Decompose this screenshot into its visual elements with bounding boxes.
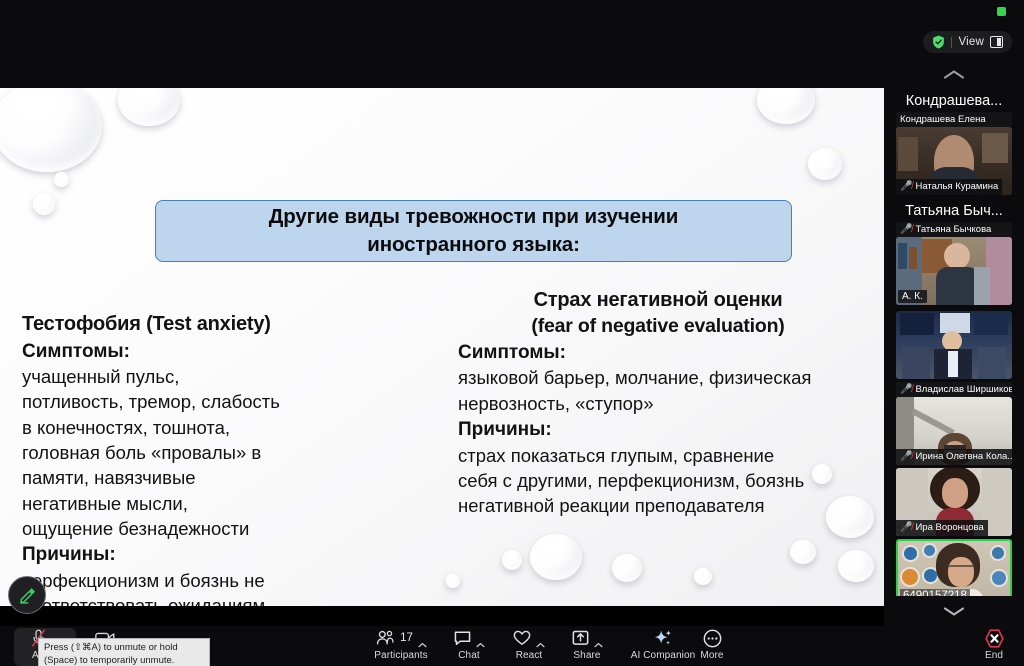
decorative-bubble xyxy=(808,148,842,180)
decorative-bubble xyxy=(0,88,102,172)
view-label[interactable]: View xyxy=(958,36,984,48)
more-dots-icon[interactable] xyxy=(703,628,722,648)
participants-button[interactable]: 17 Participants xyxy=(372,628,430,666)
right-heading-ru: Страх негативной оценки xyxy=(458,288,858,314)
rail-participant-name: Кондрашева... xyxy=(884,88,1024,112)
participant-video-tile[interactable]: 🎤̸ Ирина Олегвна Кола... xyxy=(896,397,1012,465)
left-symptoms-line: потливость, тремор, слабость xyxy=(22,389,352,414)
rail-participant-name: Татьяна Быч... xyxy=(884,198,1024,222)
sparkle-icon[interactable] xyxy=(653,628,673,648)
right-symptoms-label: Симптомы: xyxy=(458,340,858,365)
decorative-bubble xyxy=(694,568,712,585)
slide-title-box: Другие виды тревожности при изучении ино… xyxy=(155,200,792,262)
right-symptoms-line: языковой барьер, молчание, физическая xyxy=(458,365,858,390)
decorative-bubble xyxy=(790,540,816,564)
left-symptoms-line: памяти, навязчивые xyxy=(22,465,352,490)
mic-muted-icon: 🎤̸ xyxy=(900,383,912,396)
left-causes-line: перфекционизм и боязнь не xyxy=(22,568,352,593)
decorative-bubble xyxy=(612,554,642,582)
pencil-annotate-icon xyxy=(18,586,37,605)
react-options-caret[interactable] xyxy=(536,635,545,641)
participant-name: Ира Воронцова xyxy=(915,522,983,534)
participant-name: Наталья Курамина xyxy=(915,181,998,193)
audio-tooltip: Press (⇧⌘A) to unmute or hold (Space) to… xyxy=(38,638,210,666)
slide-left-column: Тестофобия (Test anxiety) Симптомы: учащ… xyxy=(22,312,352,606)
ai-companion-label: AI Companion xyxy=(631,650,696,661)
participant-video-tile[interactable]: 🎤̸ Наталья Курамина xyxy=(896,127,1012,195)
participants-options-caret[interactable] xyxy=(418,635,427,641)
right-causes-line: негативной реакции преподавателя xyxy=(458,493,858,518)
end-call-icon[interactable] xyxy=(984,628,1005,648)
participant-video-tile[interactable] xyxy=(896,311,1012,379)
rail-scroll-down-button[interactable] xyxy=(884,596,1024,626)
rail-self-name: Кондрашева Елена xyxy=(900,113,986,126)
decorative-bubble xyxy=(502,550,522,570)
chat-bubble-icon[interactable] xyxy=(454,628,471,648)
participant-name-tag: 🎤̸ Наталья Курамина xyxy=(896,179,1002,195)
participant-name: Ирина Олегвна Кола... xyxy=(915,451,1012,463)
right-causes-line: себя с другими, перфекционизм, боязнь xyxy=(458,468,858,493)
right-symptoms-line: нервозность, «ступор» xyxy=(458,391,858,416)
shared-screen-slide[interactable]: Другие виды тревожности при изучении ино… xyxy=(0,88,884,606)
share-button[interactable]: Share xyxy=(563,628,611,666)
left-symptoms-line: в конечностях, тошнота, xyxy=(22,415,352,440)
left-symptoms-line: головная боль «провалы» в xyxy=(22,440,352,465)
react-label: React xyxy=(516,650,543,661)
decorative-bubble xyxy=(838,550,874,582)
layout-icon[interactable] xyxy=(990,36,1003,48)
right-heading-en: (fear of negative evaluation) xyxy=(458,314,858,339)
left-symptoms-label: Симптомы: xyxy=(22,339,352,364)
participant-name-tag: 🎤̸ Ирина Олегвна Кола... xyxy=(896,449,1012,465)
participant-initials-label: А. К. xyxy=(898,290,927,303)
heart-icon[interactable] xyxy=(513,628,531,648)
left-causes-line: соответствовать ожиданиям. xyxy=(22,593,352,606)
decorative-bubble xyxy=(530,534,582,580)
participants-count: 17 xyxy=(400,632,413,644)
decorative-bubble xyxy=(118,88,180,126)
left-causes-label: Причины: xyxy=(22,542,352,567)
decorative-bubble xyxy=(446,574,460,588)
left-symptoms-line: учащенный пульс, xyxy=(22,364,352,389)
mic-muted-icon: 🎤̸ xyxy=(900,522,912,534)
participants-label: Participants xyxy=(374,650,427,661)
participant-name-tag: 🎤̸ Ира Воронцова xyxy=(896,520,988,536)
divider xyxy=(951,37,952,48)
chat-options-caret[interactable] xyxy=(476,635,485,641)
chat-button[interactable]: Chat xyxy=(446,628,492,666)
left-symptoms-line: ощущение безнадежности xyxy=(22,516,352,541)
share-screen-icon[interactable] xyxy=(572,628,589,648)
participants-rail[interactable]: Кондрашева... Кондрашева Елена 🎤̸ Наталь… xyxy=(884,88,1024,606)
right-causes-line: страх показаться глупым, сравнение xyxy=(458,443,858,468)
chat-label: Chat xyxy=(458,650,480,661)
chevron-down-icon xyxy=(943,606,965,617)
more-button[interactable]: More xyxy=(690,628,734,666)
view-controls-pill[interactable]: View xyxy=(923,31,1012,53)
share-label: Share xyxy=(573,650,600,661)
rail-name-strip: 🎤̸ Татьяна Бычкова xyxy=(896,222,1012,237)
more-label: More xyxy=(700,650,723,661)
end-call-button[interactable]: End xyxy=(972,628,1016,666)
mic-muted-icon: 🎤̸ xyxy=(900,223,912,236)
end-label: End xyxy=(985,650,1003,661)
mic-muted-icon: 🎤̸ xyxy=(900,451,912,463)
share-options-caret[interactable] xyxy=(594,635,603,641)
participant-video-tile[interactable]: А. К. xyxy=(896,237,1012,305)
shield-check-icon[interactable] xyxy=(932,35,945,49)
chevron-up-icon xyxy=(943,69,965,80)
participant-name: Владислав Ширшиков xyxy=(915,383,1012,396)
left-symptoms-line: негативные мысли, xyxy=(22,491,352,516)
rail-scroll-up-button[interactable] xyxy=(884,60,1024,88)
mic-muted-icon: 🎤̸ xyxy=(900,181,912,193)
decorative-bubble xyxy=(33,193,55,215)
rail-name-strip: 🎤̸ Владислав Ширшиков xyxy=(896,382,1012,397)
video-thumbnail xyxy=(896,311,1012,379)
recording-dot xyxy=(997,7,1006,16)
rail-self-name-strip: Кондрашева Елена xyxy=(896,112,1012,127)
annotate-button[interactable] xyxy=(8,576,46,614)
slide-title-line-1: Другие виды тревожности при изучении xyxy=(269,203,679,231)
top-bar: View xyxy=(0,0,1024,88)
left-heading: Тестофобия (Test anxiety) xyxy=(22,312,352,338)
participant-video-tile[interactable]: 🎤̸ Ира Воронцова xyxy=(896,468,1012,536)
participants-icon[interactable] xyxy=(375,628,395,648)
slide-right-column: Страх негативной оценки (fear of negativ… xyxy=(458,288,858,519)
right-causes-label: Причины: xyxy=(458,417,858,442)
react-button[interactable]: React xyxy=(505,628,553,666)
participant-name: Татьяна Бычкова xyxy=(915,223,991,236)
decorative-bubble xyxy=(757,88,815,124)
slide-title-line-2: иностранного языка: xyxy=(367,231,580,259)
decorative-bubble xyxy=(54,172,69,187)
